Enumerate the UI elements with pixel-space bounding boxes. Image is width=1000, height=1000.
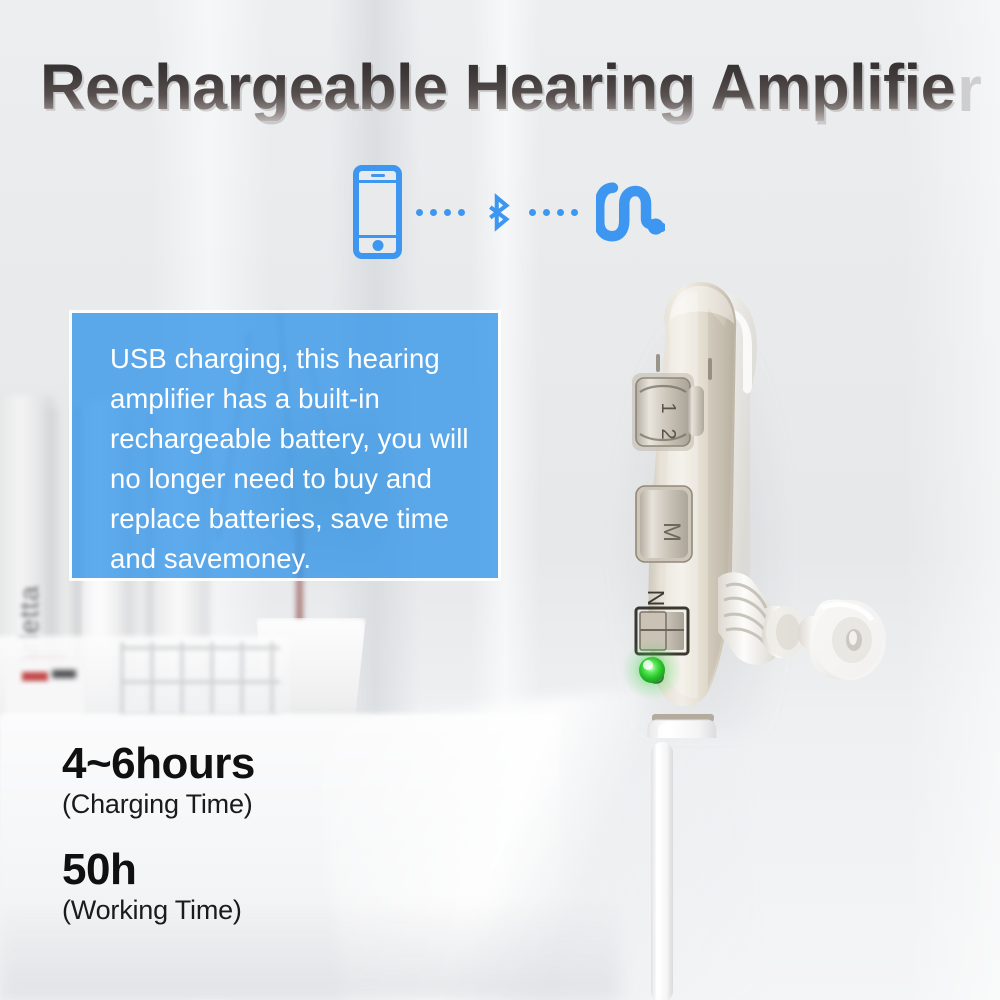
mode-button-control: M [636,486,692,562]
usb-charging-cable [648,742,676,1000]
spec-label: (Charging Time) [62,788,255,822]
status-led-indicator [622,640,682,700]
microphone-slot [656,354,660,372]
signal-dots-left-icon [416,209,465,216]
signal-dots-right-icon [529,209,578,216]
spec-value: 4~6hours [62,742,255,786]
mode-button-label: M [658,522,685,542]
spec-label: (Working Time) [62,894,255,928]
microphone-slot [708,358,712,380]
phone-home-button [372,240,383,251]
volume-wheel-control: 1 2 [632,373,704,451]
page-title: Rechargeable Hearing Amplifier [40,54,956,121]
connectivity-diagram [345,158,665,266]
background-card-accent [22,672,48,681]
product-image-canvas: Arletta Rechargeable Hearing Amplifier R… [0,0,1000,1000]
hearing-aid-icon [596,176,665,248]
usb-charging-plug [648,714,716,738]
smartphone-icon [353,165,402,259]
spec-list: 4~6hours (Charging Time) 50h (Working Ti… [62,742,255,928]
power-switch-label-n: N [643,590,669,607]
spec-working-time: 50h (Working Time) [62,848,255,928]
spec-value: 50h [62,848,255,892]
phone-screen [359,180,396,238]
feature-callout-box: USB charging, this hearing amplifier has… [72,313,498,578]
phone-speaker-slot [371,174,385,177]
spec-charging-time: 4~6hours (Charging Time) [62,742,255,822]
background-card-accent-2 [52,670,76,678]
product-ear-dome [810,599,886,680]
background-card [6,660,84,718]
volume-wheel-mark-2: 2 [657,428,679,439]
volume-wheel-mark-1: 1 [657,402,679,413]
product-hearing-amplifier: 1 2 M N O [600,268,940,738]
bluetooth-icon [479,181,515,243]
feature-callout-text: USB charging, this hearing amplifier has… [110,339,476,579]
